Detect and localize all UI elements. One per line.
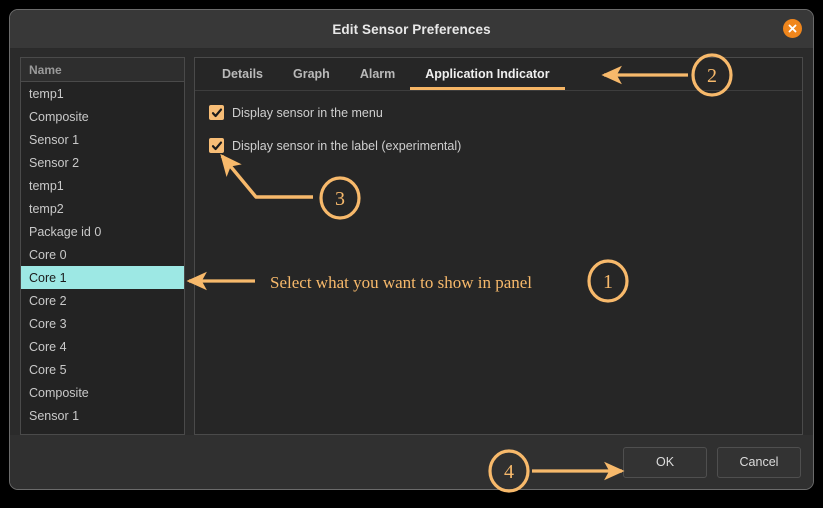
screen: Edit Sensor Preferences Name temp1Compos… (0, 0, 823, 508)
title-bar: Edit Sensor Preferences (10, 10, 813, 49)
preferences-panel: DetailsGraphAlarmApplication Indicator D… (194, 57, 803, 435)
list-item[interactable]: temp2 (21, 197, 184, 220)
tab-bar[interactable]: DetailsGraphAlarmApplication Indicator (195, 58, 802, 91)
tab-alarm[interactable]: Alarm (345, 57, 410, 90)
column-header-name: Name (29, 63, 62, 77)
list-item[interactable]: Core 3 (21, 312, 184, 335)
list-item[interactable]: Composite (21, 381, 184, 404)
dialog-footer: OK Cancel (10, 435, 813, 489)
list-item[interactable]: Core 4 (21, 335, 184, 358)
checkbox-row[interactable]: Display sensor in the label (experimenta… (209, 138, 802, 153)
tab-application-indicator[interactable]: Application Indicator (410, 57, 564, 90)
list-item[interactable]: Core 5 (21, 358, 184, 381)
tab-content-application-indicator: Display sensor in the menuDisplay sensor… (195, 91, 802, 434)
list-item[interactable]: Core 1 (21, 266, 184, 289)
checkbox-checked-icon[interactable] (209, 138, 224, 153)
list-item[interactable]: Core 2 (21, 289, 184, 312)
ok-button[interactable]: OK (623, 447, 707, 478)
list-item[interactable]: Sensor 1 (21, 404, 184, 427)
dialog-window: Edit Sensor Preferences Name temp1Compos… (9, 9, 814, 490)
list-item[interactable]: Composite (21, 105, 184, 128)
list-item[interactable]: Sensor 1 (21, 128, 184, 151)
list-item[interactable]: temp1 (21, 174, 184, 197)
dialog-body: Name temp1CompositeSensor 1Sensor 2temp1… (10, 49, 813, 435)
list-item[interactable]: Package id 0 (21, 220, 184, 243)
sensor-list-header: Name (21, 58, 184, 82)
checkbox-label: Display sensor in the menu (232, 106, 383, 120)
tab-details[interactable]: Details (207, 57, 278, 90)
list-item[interactable]: temp1 (21, 82, 184, 105)
list-item[interactable]: Core 0 (21, 243, 184, 266)
sensor-list[interactable]: Name temp1CompositeSensor 1Sensor 2temp1… (20, 57, 185, 435)
close-icon[interactable] (783, 19, 802, 38)
list-item[interactable]: Sensor 2 (21, 427, 184, 434)
checkbox-row[interactable]: Display sensor in the menu (209, 105, 802, 120)
checkbox-label: Display sensor in the label (experimenta… (232, 139, 461, 153)
cancel-button[interactable]: Cancel (717, 447, 801, 478)
window-title: Edit Sensor Preferences (332, 22, 490, 37)
list-item[interactable]: Sensor 2 (21, 151, 184, 174)
tab-graph[interactable]: Graph (278, 57, 345, 90)
sensor-list-body[interactable]: temp1CompositeSensor 1Sensor 2temp1temp2… (21, 82, 184, 434)
checkbox-checked-icon[interactable] (209, 105, 224, 120)
